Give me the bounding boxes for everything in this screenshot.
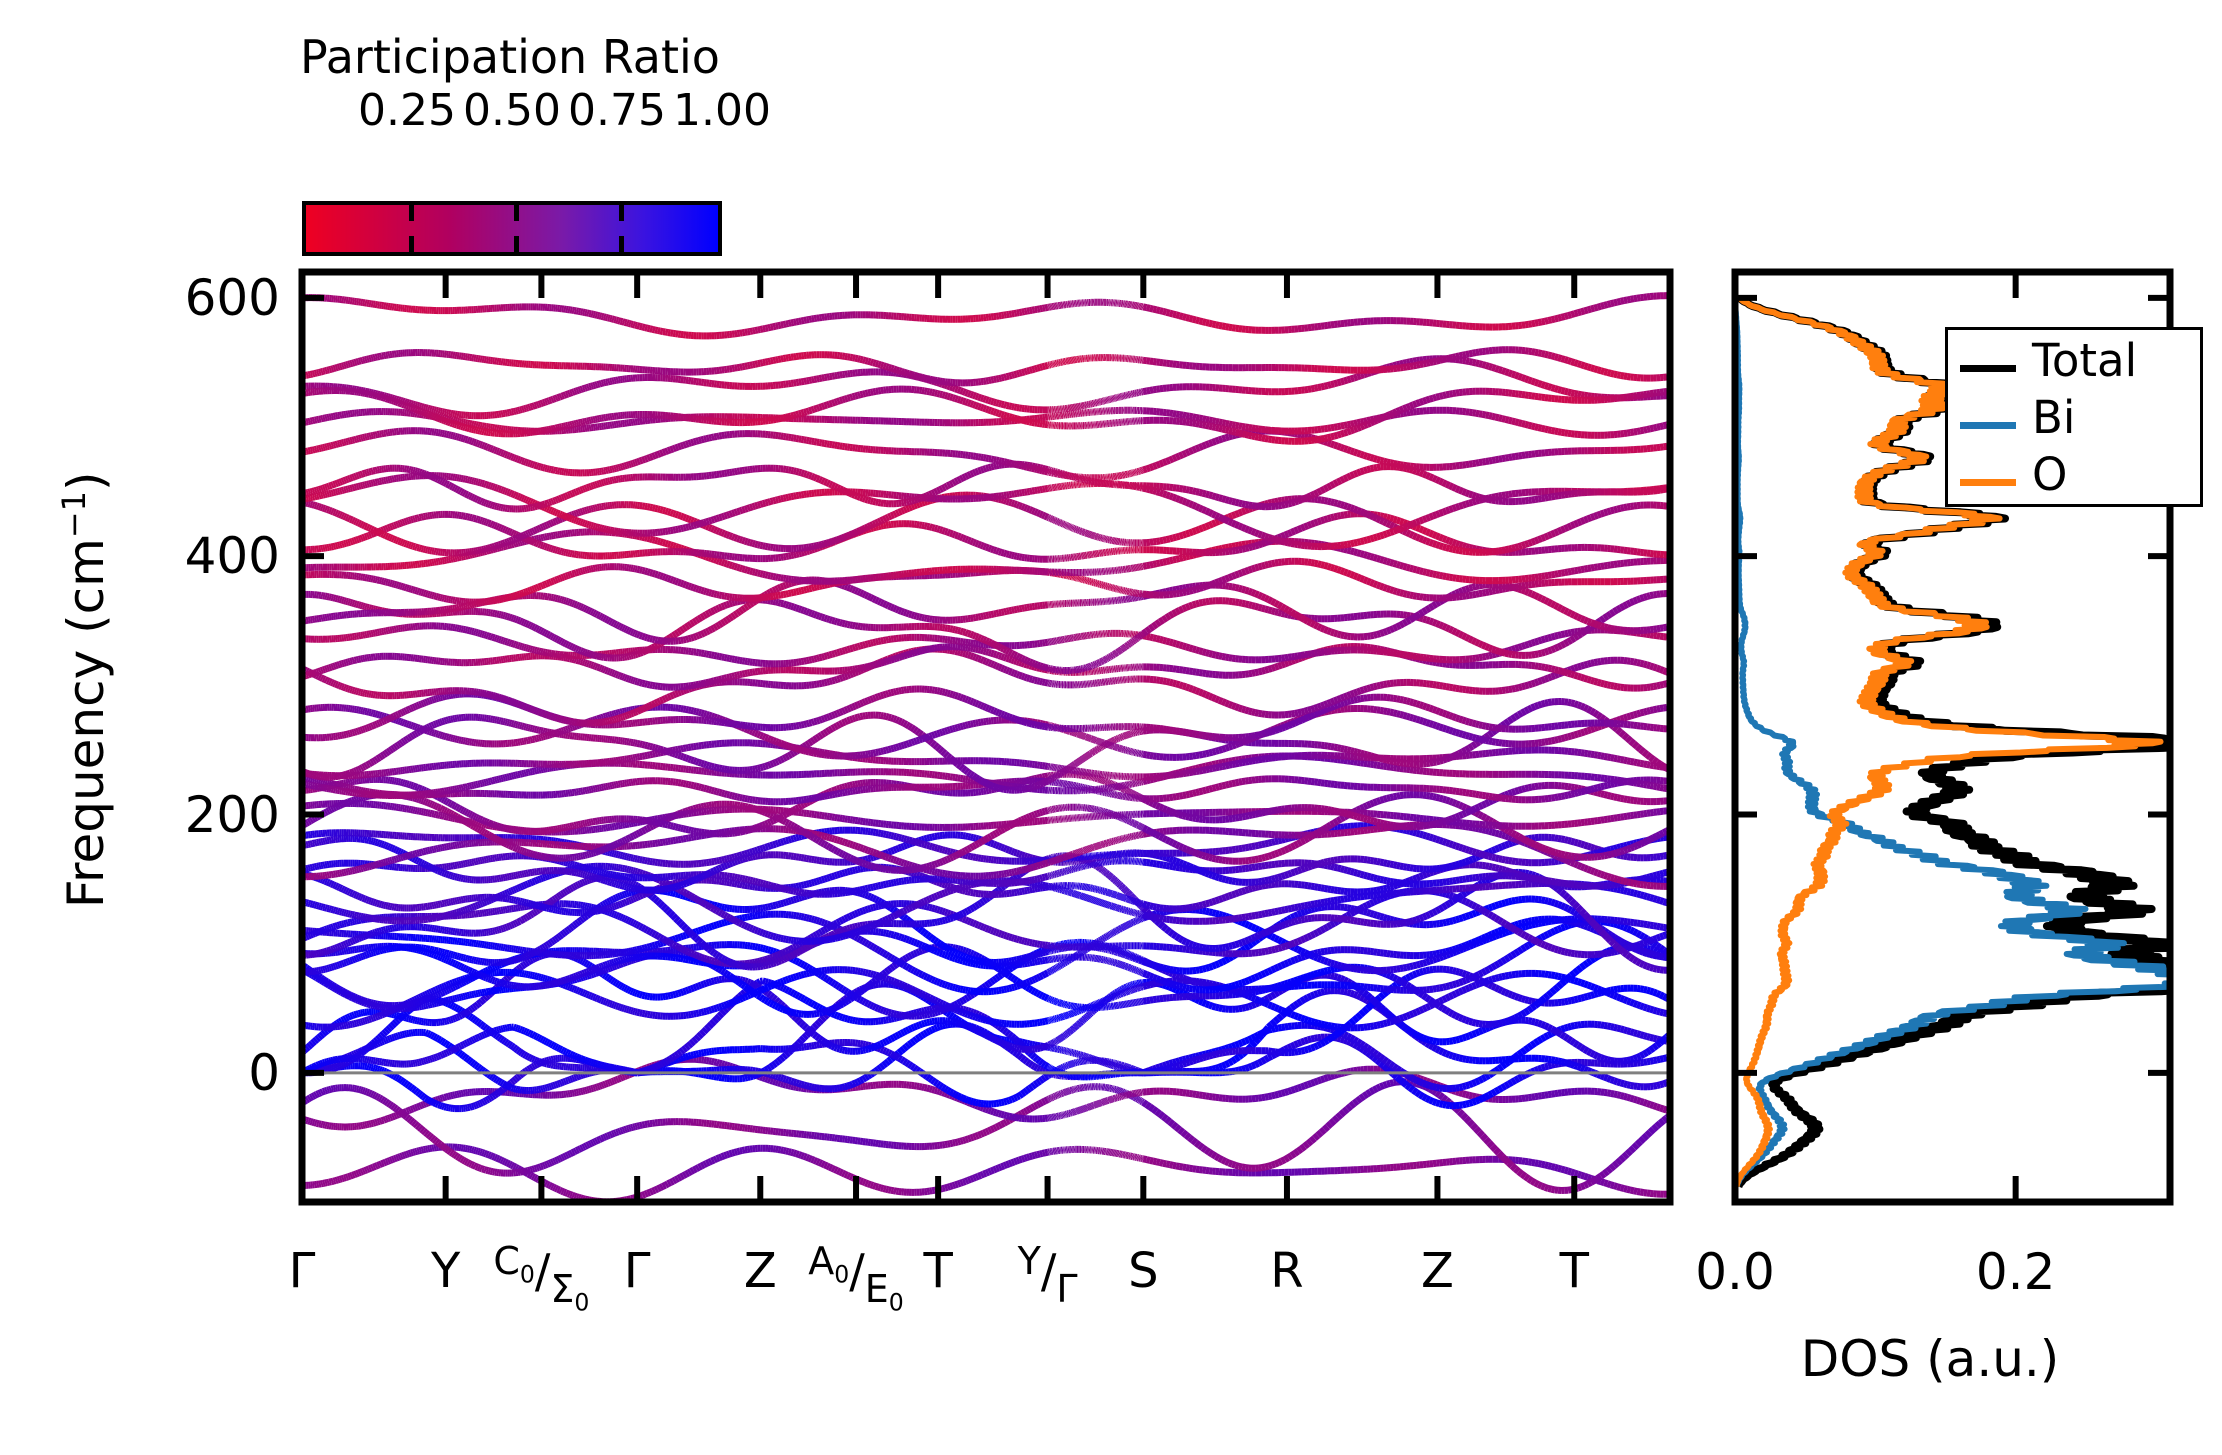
band-segment xyxy=(781,1150,784,1151)
band-segment xyxy=(570,1195,572,1196)
band-segment xyxy=(824,1042,827,1044)
band-segment xyxy=(1654,1106,1657,1107)
band-segment xyxy=(1160,1163,1163,1164)
band-segment xyxy=(1426,1098,1429,1100)
band-segment xyxy=(1001,1028,1004,1030)
band-segment xyxy=(1519,998,1522,999)
band-segment xyxy=(986,1172,989,1173)
band-segment xyxy=(983,1034,986,1035)
band-segment xyxy=(899,1051,902,1053)
band-segment xyxy=(394,1076,396,1077)
band-segment xyxy=(1014,1052,1017,1054)
band-segment xyxy=(597,1086,599,1087)
band-segment xyxy=(796,1018,799,1021)
band-segment xyxy=(958,1183,961,1184)
band-segment xyxy=(945,1025,948,1026)
band-segment xyxy=(1588,1177,1591,1178)
band-segment xyxy=(778,1083,781,1084)
band-segment xyxy=(350,1175,352,1176)
band-segment xyxy=(1565,1170,1568,1171)
band-segment xyxy=(668,1183,671,1184)
band-segment xyxy=(587,1145,589,1146)
band-segment xyxy=(478,1037,480,1038)
band-segment xyxy=(850,1020,853,1021)
band-segment xyxy=(526,1171,528,1172)
band-segment xyxy=(1529,1179,1532,1181)
band-segment xyxy=(924,1033,927,1035)
band-segment xyxy=(1476,1129,1479,1133)
band-segment xyxy=(768,993,771,995)
band-segment xyxy=(623,1077,625,1078)
band-segment xyxy=(1042,1047,1045,1048)
band-segment xyxy=(1272,1022,1275,1025)
band-segment xyxy=(417,1106,419,1107)
band-segment xyxy=(631,991,633,992)
band-segment xyxy=(1275,1019,1278,1022)
band-segment xyxy=(1328,1077,1331,1078)
band-segment xyxy=(935,1090,938,1091)
band-segment xyxy=(514,1089,516,1090)
band-segment xyxy=(1377,1055,1380,1057)
band-segment xyxy=(1561,1002,1564,1003)
band-segment xyxy=(1004,1101,1007,1102)
band-segment xyxy=(922,1023,925,1024)
band-segment xyxy=(1183,1132,1186,1135)
band-segment xyxy=(321,1034,323,1036)
band-segment xyxy=(346,1177,348,1178)
band-segment xyxy=(1186,1135,1189,1138)
band-segment xyxy=(950,1092,953,1093)
band-segment xyxy=(398,1157,400,1158)
band-segment xyxy=(912,1066,915,1068)
band-segment xyxy=(668,1059,671,1061)
band-segment xyxy=(691,1055,694,1056)
band-segment xyxy=(602,1138,604,1139)
band-segment xyxy=(618,984,620,985)
band-segment xyxy=(1092,1012,1093,1013)
band-segment xyxy=(1229,1163,1232,1164)
band-segment xyxy=(1644,1062,1647,1063)
band-segment xyxy=(1069,1032,1070,1033)
band-segment xyxy=(579,959,581,960)
band-segment xyxy=(411,1087,413,1089)
band-segment xyxy=(488,1074,490,1075)
band-segment xyxy=(1604,1183,1607,1184)
band-segment xyxy=(1473,1082,1476,1083)
band-segment xyxy=(1660,1059,1663,1060)
band-segment xyxy=(476,1105,478,1106)
band-segment xyxy=(551,1086,553,1087)
band-segment xyxy=(436,1038,438,1039)
band-segment xyxy=(1009,1116,1012,1117)
band-segment xyxy=(1492,1092,1495,1094)
band-segment xyxy=(1463,1104,1466,1105)
band-segment xyxy=(1542,1095,1545,1096)
band-segment xyxy=(488,1171,490,1172)
band-segment xyxy=(1081,1022,1082,1023)
band-segment xyxy=(689,1055,692,1056)
band-segment xyxy=(419,1127,421,1129)
band-segment xyxy=(1308,1083,1311,1084)
band-segment xyxy=(336,1067,338,1068)
band-segment xyxy=(386,1161,388,1162)
band-segment xyxy=(1499,1153,1502,1156)
band-segment xyxy=(363,1171,365,1172)
band-segment xyxy=(1532,1097,1535,1098)
band-segment xyxy=(1090,1013,1091,1014)
band-segment xyxy=(541,1039,543,1040)
band-segment xyxy=(1007,1045,1010,1046)
band-segment xyxy=(673,1056,676,1058)
band-segment xyxy=(837,1016,840,1017)
band-segment xyxy=(966,1180,969,1181)
band-segment xyxy=(306,1047,308,1049)
band-segment xyxy=(914,1039,917,1041)
band-segment xyxy=(842,1173,845,1174)
band-segment xyxy=(470,1016,472,1017)
band-segment xyxy=(1091,1012,1092,1013)
band-segment xyxy=(781,1078,784,1079)
band-segment xyxy=(484,1153,486,1154)
band-segment xyxy=(442,1041,444,1042)
band-segment xyxy=(1650,1129,1653,1132)
band-segment xyxy=(1634,1033,1637,1034)
band-segment xyxy=(497,1030,499,1031)
band-segment xyxy=(1027,1157,1030,1158)
band-segment xyxy=(845,1174,848,1175)
band-segment xyxy=(442,1146,444,1148)
band-segment xyxy=(1032,1055,1035,1057)
band-segment xyxy=(593,1088,595,1089)
band-segment xyxy=(566,1052,568,1053)
band-segment xyxy=(396,1115,398,1116)
band-segment xyxy=(1084,1019,1085,1020)
band-segment xyxy=(482,1102,484,1103)
band-segment xyxy=(1222,1065,1225,1066)
band-segment xyxy=(1397,1077,1400,1080)
band-segment xyxy=(363,1050,365,1052)
band-segment xyxy=(505,1085,507,1086)
band-segment xyxy=(927,1031,930,1032)
band-segment xyxy=(444,1097,446,1098)
band-segment xyxy=(676,994,679,995)
band-segment xyxy=(1087,1017,1088,1018)
band-segment xyxy=(1384,1066,1387,1069)
band-segment xyxy=(886,1189,889,1190)
band-segment xyxy=(822,1040,825,1042)
band-segment xyxy=(415,1090,417,1092)
band-segment xyxy=(1331,1076,1334,1077)
band-segment xyxy=(325,1031,327,1033)
band-segment xyxy=(1535,1163,1538,1164)
band-segment xyxy=(1387,1062,1390,1064)
band-segment xyxy=(1617,1187,1620,1188)
band-segment xyxy=(348,1176,350,1177)
band-segment xyxy=(817,1161,820,1162)
band-segment xyxy=(1318,1080,1321,1081)
band-segment xyxy=(953,1185,956,1186)
band-segment xyxy=(380,1042,382,1043)
band-segment xyxy=(1017,1040,1020,1042)
band-segment xyxy=(392,1106,394,1108)
band-segment xyxy=(491,1032,493,1033)
band-segment xyxy=(1552,1065,1555,1066)
band-segment xyxy=(1361,1044,1364,1046)
band-segment xyxy=(532,1169,534,1170)
band-segment xyxy=(891,1038,894,1039)
band-segment xyxy=(1608,1093,1611,1094)
band-segment xyxy=(922,1087,925,1088)
band-segment xyxy=(1027,1062,1030,1064)
band-segment xyxy=(1347,1036,1350,1038)
band-segment xyxy=(996,1126,999,1127)
band-segment xyxy=(1535,1041,1538,1043)
band-segment xyxy=(1073,1029,1074,1030)
band-segment xyxy=(801,998,804,999)
band-segment xyxy=(407,1111,409,1112)
band-segment xyxy=(1552,1060,1555,1061)
band-segment xyxy=(438,1039,440,1040)
band-segment xyxy=(631,1127,633,1128)
band-segment xyxy=(468,1163,470,1164)
band-segment xyxy=(1035,1067,1038,1069)
band-segment xyxy=(835,1170,838,1171)
band-segment xyxy=(1014,1097,1017,1098)
band-segment xyxy=(1357,1099,1360,1102)
band-segment xyxy=(1374,1088,1377,1090)
band-segment xyxy=(451,1152,453,1153)
band-segment xyxy=(958,1141,961,1142)
band-segment xyxy=(568,1080,570,1081)
band-segment xyxy=(371,1167,373,1168)
band-segment xyxy=(1407,1085,1410,1088)
band-segment xyxy=(789,991,792,992)
band-segment xyxy=(564,1156,566,1157)
band-segment xyxy=(440,1144,442,1146)
band-segment xyxy=(1644,1036,1647,1037)
band-segment xyxy=(1206,1096,1209,1097)
band-segment xyxy=(1072,1029,1073,1030)
band-segment xyxy=(848,1085,851,1086)
band-segment xyxy=(581,1148,583,1149)
band-segment xyxy=(1001,1123,1004,1124)
band-segment xyxy=(971,1178,974,1179)
band-segment xyxy=(994,1039,997,1040)
band-segment xyxy=(1209,1096,1212,1097)
band-segment xyxy=(535,1177,537,1178)
band-segment xyxy=(681,1176,684,1177)
band-segment xyxy=(315,1123,317,1124)
band-segment xyxy=(604,975,606,976)
band-segment xyxy=(801,1023,804,1025)
band-segment xyxy=(765,982,768,983)
band-segment xyxy=(392,1159,394,1160)
band-segment xyxy=(686,990,689,991)
band-segment xyxy=(1305,998,1308,1000)
band-segment xyxy=(1617,989,1620,990)
band-segment xyxy=(1019,1159,1022,1160)
band-segment xyxy=(1239,1069,1242,1070)
band-segment xyxy=(493,1077,495,1078)
band-segment xyxy=(1545,1165,1548,1166)
band-segment xyxy=(1568,1026,1571,1027)
band-segment xyxy=(1548,1065,1551,1066)
band-segment xyxy=(671,1181,674,1182)
band-segment xyxy=(384,1032,386,1034)
band-segment xyxy=(384,1100,386,1101)
band-segment xyxy=(1321,1130,1324,1133)
band-segment xyxy=(865,1076,868,1078)
band-segment xyxy=(1347,1041,1350,1042)
band-segment xyxy=(824,1165,827,1166)
band-segment xyxy=(930,1030,933,1031)
band-segment xyxy=(924,1075,927,1077)
band-segment xyxy=(981,1174,984,1175)
band-segment xyxy=(704,1075,707,1076)
band-segment xyxy=(549,1086,551,1087)
band-segment xyxy=(581,960,583,961)
band-segment xyxy=(1082,1021,1083,1022)
band-segment xyxy=(1027,1109,1030,1110)
band-segment xyxy=(937,1084,940,1086)
band-segment xyxy=(930,1078,933,1080)
band-segment xyxy=(1229,1061,1232,1063)
band-segment xyxy=(606,1083,608,1084)
band-segment xyxy=(1153,1161,1156,1162)
band-segment xyxy=(340,1065,342,1066)
band-segment xyxy=(1030,1087,1033,1089)
band-segment xyxy=(472,1008,474,1010)
band-segment xyxy=(1529,1162,1532,1163)
band-segment xyxy=(419,1105,421,1106)
band-segment xyxy=(983,1132,986,1133)
band-segment xyxy=(600,1065,602,1066)
band-segment xyxy=(627,1070,629,1071)
band-segment xyxy=(310,1097,312,1098)
band-segment xyxy=(539,1061,541,1062)
band-segment xyxy=(535,1036,537,1037)
band-segment xyxy=(478,1022,480,1024)
band-segment xyxy=(1037,1059,1040,1061)
band-segment xyxy=(714,980,717,981)
band-segment xyxy=(319,1093,321,1094)
band-segment xyxy=(606,976,608,977)
band-segment xyxy=(1502,991,1505,993)
band-segment xyxy=(579,1076,581,1077)
band-segment xyxy=(840,1172,843,1173)
band-segment xyxy=(1466,1059,1469,1060)
band-segment xyxy=(1509,1082,1512,1084)
band-segment xyxy=(1647,1132,1650,1135)
band-segment xyxy=(1413,1079,1416,1081)
band-segment xyxy=(794,1087,797,1088)
band-segment xyxy=(417,1092,419,1094)
band-segment xyxy=(1568,1171,1571,1172)
band-segment xyxy=(405,1034,407,1035)
band-segment xyxy=(996,1040,999,1041)
band-segment xyxy=(465,1161,467,1162)
band-segment xyxy=(1575,999,1578,1000)
band-segment xyxy=(474,1105,476,1106)
band-segment xyxy=(1278,1016,1281,1019)
band-segment xyxy=(1045,1076,1048,1078)
band-segment xyxy=(1160,1070,1163,1071)
band-segment xyxy=(1157,1071,1160,1072)
band-segment xyxy=(930,1022,933,1023)
band-segment xyxy=(1040,1047,1043,1048)
band-segment xyxy=(968,1138,971,1139)
band-segment xyxy=(1364,1046,1367,1048)
band-segment xyxy=(1354,994,1357,995)
band-segment xyxy=(1459,1112,1462,1115)
band-segment xyxy=(472,1106,474,1107)
band-segment xyxy=(444,1043,446,1044)
band-segment xyxy=(581,1198,583,1199)
band-segment xyxy=(612,1133,614,1134)
band-segment xyxy=(1173,1165,1176,1166)
band-segment xyxy=(413,1152,415,1153)
band-segment xyxy=(683,1048,686,1050)
band-segment xyxy=(1604,1171,1607,1174)
band-segment xyxy=(463,1013,465,1014)
band-segment xyxy=(1180,1167,1183,1168)
band-segment xyxy=(461,1159,463,1160)
band-segment xyxy=(883,1020,886,1021)
band-segment xyxy=(1252,1065,1255,1066)
band-segment xyxy=(1565,1001,1568,1002)
band-segment xyxy=(1354,1101,1357,1104)
band-segment xyxy=(719,1157,722,1158)
band-segment xyxy=(917,1037,920,1039)
band-segment xyxy=(583,1075,585,1076)
band-segment xyxy=(807,1086,810,1087)
band-segment xyxy=(375,1166,377,1167)
band-segment xyxy=(342,1064,344,1065)
band-segment xyxy=(1189,1168,1192,1169)
band-segment xyxy=(583,1091,585,1092)
band-segment xyxy=(1354,1070,1357,1071)
band-segment xyxy=(449,1004,451,1005)
band-segment xyxy=(547,1184,549,1185)
band-segment xyxy=(1417,1080,1420,1082)
band-segment xyxy=(663,1062,666,1063)
band-segment xyxy=(390,1038,392,1039)
band-segment xyxy=(1456,1088,1459,1089)
band-segment xyxy=(1199,1095,1202,1096)
band-segment xyxy=(989,1037,992,1038)
band-segment xyxy=(1324,991,1327,992)
band-segment xyxy=(428,1100,430,1101)
band-segment xyxy=(1291,1045,1294,1047)
band-segment xyxy=(1400,1080,1403,1083)
band-segment xyxy=(1071,1030,1072,1031)
band-segment xyxy=(1410,1077,1413,1079)
band-segment xyxy=(1035,1083,1038,1085)
band-segment xyxy=(689,989,692,990)
band-segment xyxy=(1212,1054,1215,1055)
band-segment xyxy=(455,1018,457,1019)
band-segment xyxy=(758,981,761,983)
band-segment xyxy=(671,995,674,996)
band-segment xyxy=(773,1063,776,1065)
band-segment xyxy=(1581,1186,1584,1187)
band-segment xyxy=(1654,1086,1657,1087)
band-segment xyxy=(1417,1092,1420,1094)
band-segment xyxy=(1232,1164,1235,1165)
band-segment xyxy=(1604,1077,1607,1078)
band-segment xyxy=(411,1109,413,1110)
band-segment xyxy=(476,1021,478,1023)
